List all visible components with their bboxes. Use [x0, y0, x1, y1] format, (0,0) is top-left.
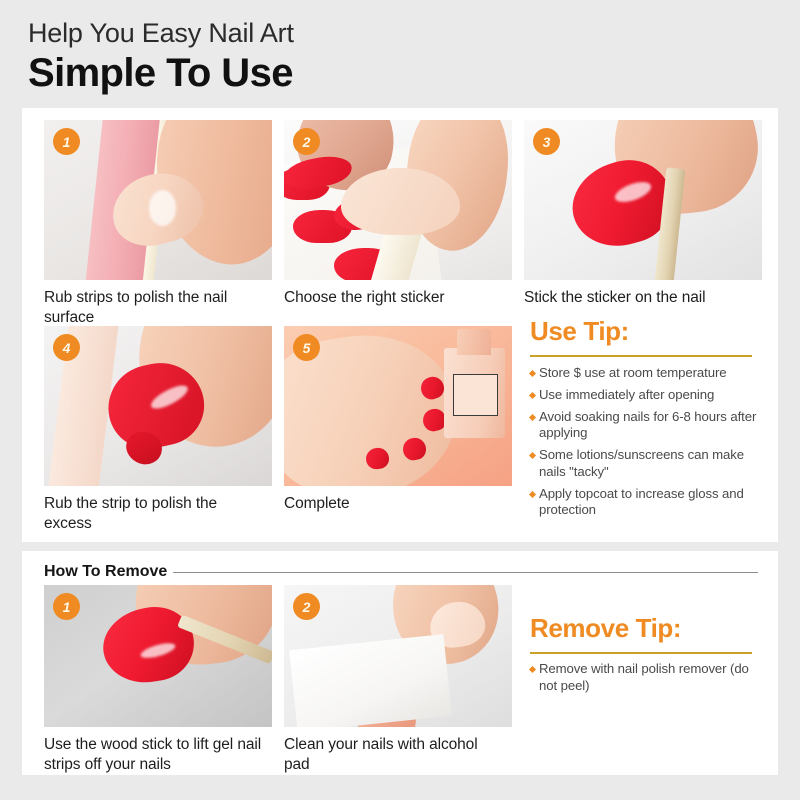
- bullet-diamond-icon: [529, 666, 536, 673]
- use-tip-item: Some lotions/sunscreens can make nails "…: [530, 447, 770, 481]
- bullet-diamond-icon: [529, 452, 536, 459]
- remove-step-2-caption: Clean your nails with alcohol pad: [284, 735, 499, 775]
- step-1-caption: Rub strips to polish the nail surface: [44, 288, 259, 328]
- remove-section-card: How To Remove 1 Use the wood stick to li…: [22, 551, 778, 775]
- remove-step-1-caption: Use the wood stick to lift gel nail stri…: [44, 735, 274, 775]
- step-5-badge: 5: [293, 334, 320, 361]
- use-tip-item: Apply topcoat to increase gloss and prot…: [530, 486, 770, 520]
- remove-tip-item: Remove with nail polish remover (do not …: [530, 661, 770, 695]
- remove-step-2-badge: 2: [293, 593, 320, 620]
- remove-step-2-image: 2: [284, 585, 512, 727]
- use-tip-list: Store $ use at room temperature Use imme…: [530, 365, 770, 524]
- page-header: Help You Easy Nail Art Simple To Use: [28, 18, 294, 96]
- bullet-diamond-icon: [529, 392, 536, 399]
- step-4-caption: Rub the strip to polish the excess: [44, 494, 254, 534]
- use-tip-item: Avoid soaking nails for 6-8 hours after …: [530, 409, 770, 443]
- step-1-image: 1: [44, 120, 272, 280]
- remove-tip-rule: [530, 652, 752, 654]
- infographic-page: Help You Easy Nail Art Simple To Use 1 R…: [0, 0, 800, 800]
- use-tip-item: Use immediately after opening: [530, 387, 770, 404]
- step-5-caption: Complete: [284, 494, 484, 514]
- page-subtitle: Help You Easy Nail Art: [28, 18, 294, 49]
- step-3-caption: Stick the sticker on the nail: [524, 288, 764, 308]
- remove-section-heading: How To Remove: [44, 563, 758, 581]
- remove-tip-title: Remove Tip:: [530, 613, 681, 644]
- step-4-badge: 4: [53, 334, 80, 361]
- heading-divider: [173, 572, 758, 573]
- step-3-badge: 3: [533, 128, 560, 155]
- step-4-image: 4: [44, 326, 272, 486]
- remove-step-1-image: 1: [44, 585, 272, 727]
- bullet-diamond-icon: [529, 413, 536, 420]
- page-title: Simple To Use: [28, 51, 294, 96]
- bullet-diamond-icon: [529, 491, 536, 498]
- remove-tip-list: Remove with nail polish remover (do not …: [530, 661, 770, 700]
- step-2-badge: 2: [293, 128, 320, 155]
- bullet-diamond-icon: [529, 370, 536, 377]
- step-1-badge: 1: [53, 128, 80, 155]
- step-2-image: 2: [284, 120, 512, 280]
- remove-step-1-badge: 1: [53, 593, 80, 620]
- use-section-card: 1 Rub strips to polish the nail surface …: [22, 108, 778, 542]
- use-tip-title: Use Tip:: [530, 316, 629, 347]
- use-tip-item: Store $ use at room temperature: [530, 365, 770, 382]
- step-3-image: 3: [524, 120, 762, 280]
- use-tip-rule: [530, 355, 752, 357]
- step-2-caption: Choose the right sticker: [284, 288, 504, 308]
- remove-section-label: How To Remove: [44, 563, 173, 581]
- step-5-image: 5: [284, 326, 512, 486]
